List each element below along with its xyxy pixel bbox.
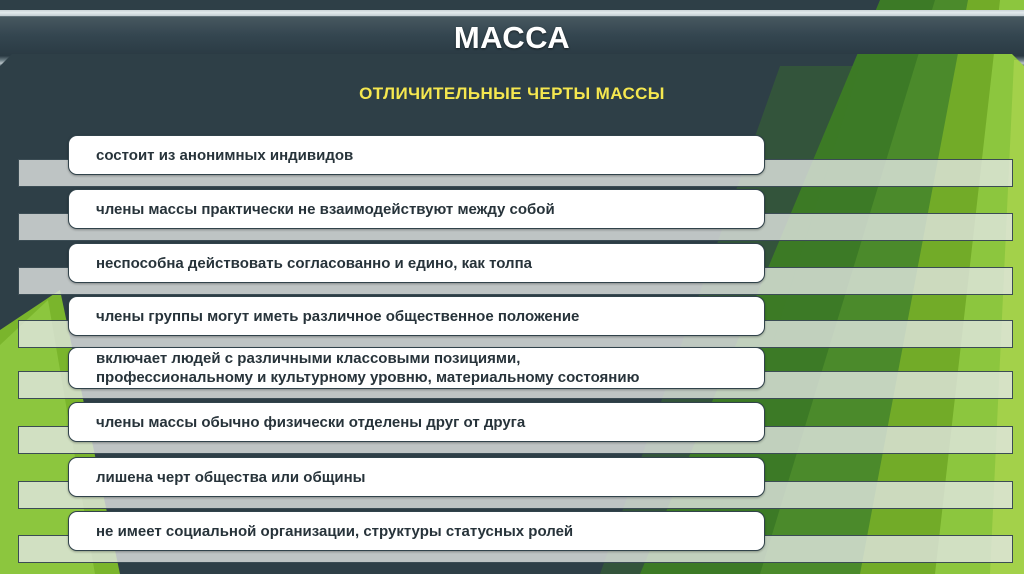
list-item[interactable]: члены группы могут иметь различное общес… xyxy=(68,296,765,336)
list-item[interactable]: члены массы обычно физически отделены др… xyxy=(68,402,765,442)
list-item[interactable]: неспособна действовать согласованно и ед… xyxy=(68,243,765,283)
list-item-label: члены массы обычно физически отделены др… xyxy=(69,413,535,432)
list-item[interactable]: не имеет социальной организации, структу… xyxy=(68,511,765,551)
list-item[interactable]: члены массы практически не взаимодейству… xyxy=(68,189,765,229)
list-item-label: не имеет социальной организации, структу… xyxy=(69,522,583,541)
slide-canvas: состоит из анонимных индивидов члены мас… xyxy=(0,0,1024,574)
page-title: МАССА xyxy=(0,10,1024,66)
list-item[interactable]: включает людей с различными классовыми п… xyxy=(68,347,765,389)
list-item[interactable]: состоит из анонимных индивидов xyxy=(68,135,765,175)
list-item-label: члены массы практически не взаимодейству… xyxy=(69,200,565,219)
list-item-label: неспособна действовать согласованно и ед… xyxy=(69,254,542,273)
list-item[interactable]: лишена черт общества или общины xyxy=(68,457,765,497)
list-item-label: состоит из анонимных индивидов xyxy=(69,146,363,165)
slide-subtitle: ОТЛИЧИТЕЛЬНЫЕ ЧЕРТЫ МАССЫ xyxy=(0,84,1024,104)
title-banner: МАССА xyxy=(0,10,1024,66)
list-item-label: включает людей с различными классовыми п… xyxy=(69,349,649,387)
list-item-label: лишена черт общества или общины xyxy=(69,468,375,487)
list-item-label: члены группы могут иметь различное общес… xyxy=(69,307,589,326)
